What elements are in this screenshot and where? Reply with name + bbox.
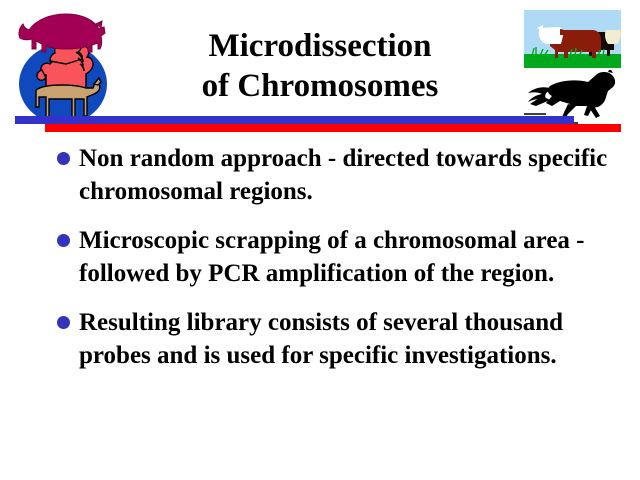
slide-canvas: Microdissection of Chromosomes [0,0,640,480]
bullet-marker-icon [57,234,70,247]
title-line-1: Microdissection [130,26,510,66]
farm-animals-logo [6,4,118,126]
bullet-marker-icon [57,152,70,165]
divider-bar-red [45,124,621,132]
photo-grass [524,54,621,68]
divider-bar-blue [15,116,574,124]
list-item: Microscopic scrapping of a chromosomal a… [50,224,620,290]
list-item: Resulting library consists of several th… [50,306,620,372]
horse-icon [528,70,615,118]
title-line-2: of Chromosomes [130,66,510,106]
bullet-text: Resulting library consists of several th… [79,309,563,369]
cattle-pasture-photo [524,10,621,68]
list-item: Non random approach - directed towards s… [50,142,620,208]
bullet-marker-icon [57,316,70,329]
bullet-list: Non random approach - directed towards s… [50,142,620,388]
divider-bars [0,116,640,134]
page-title: Microdissection of Chromosomes [130,26,510,106]
slide-header: Microdissection of Chromosomes [0,0,640,132]
pig-icon [19,14,105,52]
bullet-text: Non random approach - directed towards s… [79,145,607,205]
bullet-text: Microscopic scrapping of a chromosomal a… [79,227,585,287]
